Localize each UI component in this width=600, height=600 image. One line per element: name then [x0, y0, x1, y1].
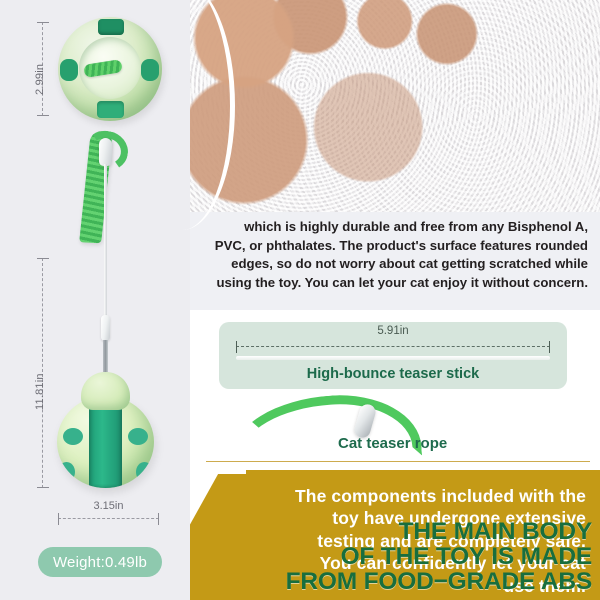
teaser-stick-name: High-bounce teaser stick — [219, 366, 567, 382]
ladybug-spot — [58, 462, 75, 482]
abs-pellets-hero-image — [186, 0, 600, 212]
ladybug-spot — [128, 428, 148, 445]
hero-headline-line-2: OF THE TOY IS MADE — [196, 544, 592, 569]
ball-slot-left — [60, 59, 78, 81]
cat-teaser-rope-graphic — [230, 390, 422, 469]
ball-width-label: 3.15in — [58, 500, 159, 512]
cat-teaser-rope-label: Cat teaser rope — [338, 435, 447, 452]
safety-line-1: The components included with the — [206, 485, 586, 507]
ball-slot-right — [141, 59, 159, 81]
teaser-stick-rod-graphic — [236, 356, 550, 360]
hero-headline-line-3: FROM FOOD−GRADE ABS — [196, 569, 592, 594]
teaser-stick-dimension-line — [236, 346, 550, 347]
right-content-column: THE MAIN BODY OF THE TOY IS MADE FROM FO… — [186, 0, 600, 600]
ladybug-spot — [63, 428, 83, 445]
ball-slot-top — [98, 19, 124, 35]
banner-corner-mask — [186, 462, 246, 474]
ladybug-spot — [136, 462, 153, 482]
wand-rod — [104, 164, 107, 319]
description-band: which is highly durable and free from an… — [186, 212, 600, 310]
teaser-stick-length-label: 5.91in — [219, 325, 567, 337]
hero-headline-line-1: THE MAIN BODY — [196, 519, 592, 544]
treat-ball-product-image — [58, 17, 162, 121]
description-paragraph: which is highly durable and free from an… — [186, 212, 600, 293]
ladybug-ball-head — [81, 372, 130, 410]
teaser-stick-card: 5.91in High-bounce teaser stick — [219, 322, 567, 389]
gold-divider-rule — [206, 461, 590, 462]
hero-headline: THE MAIN BODY OF THE TOY IS MADE FROM FO… — [196, 519, 592, 594]
wand-top-cap — [99, 138, 112, 166]
weight-badge: Weight:0.49lb — [38, 547, 162, 577]
ball-width-dimension-line — [58, 518, 159, 519]
wand-joint — [101, 315, 110, 341]
total-length-label: 11.81in — [34, 373, 46, 410]
ball-slot-bottom — [97, 101, 124, 118]
product-infographic: THE MAIN BODY OF THE TOY IS MADE FROM FO… — [0, 0, 600, 600]
ball-height-label: 2.99in — [34, 64, 46, 95]
wand-metal-shaft — [103, 340, 108, 372]
left-product-column: 2.99in 11.81in 3.15in Weight:0.49lb — [0, 0, 190, 600]
